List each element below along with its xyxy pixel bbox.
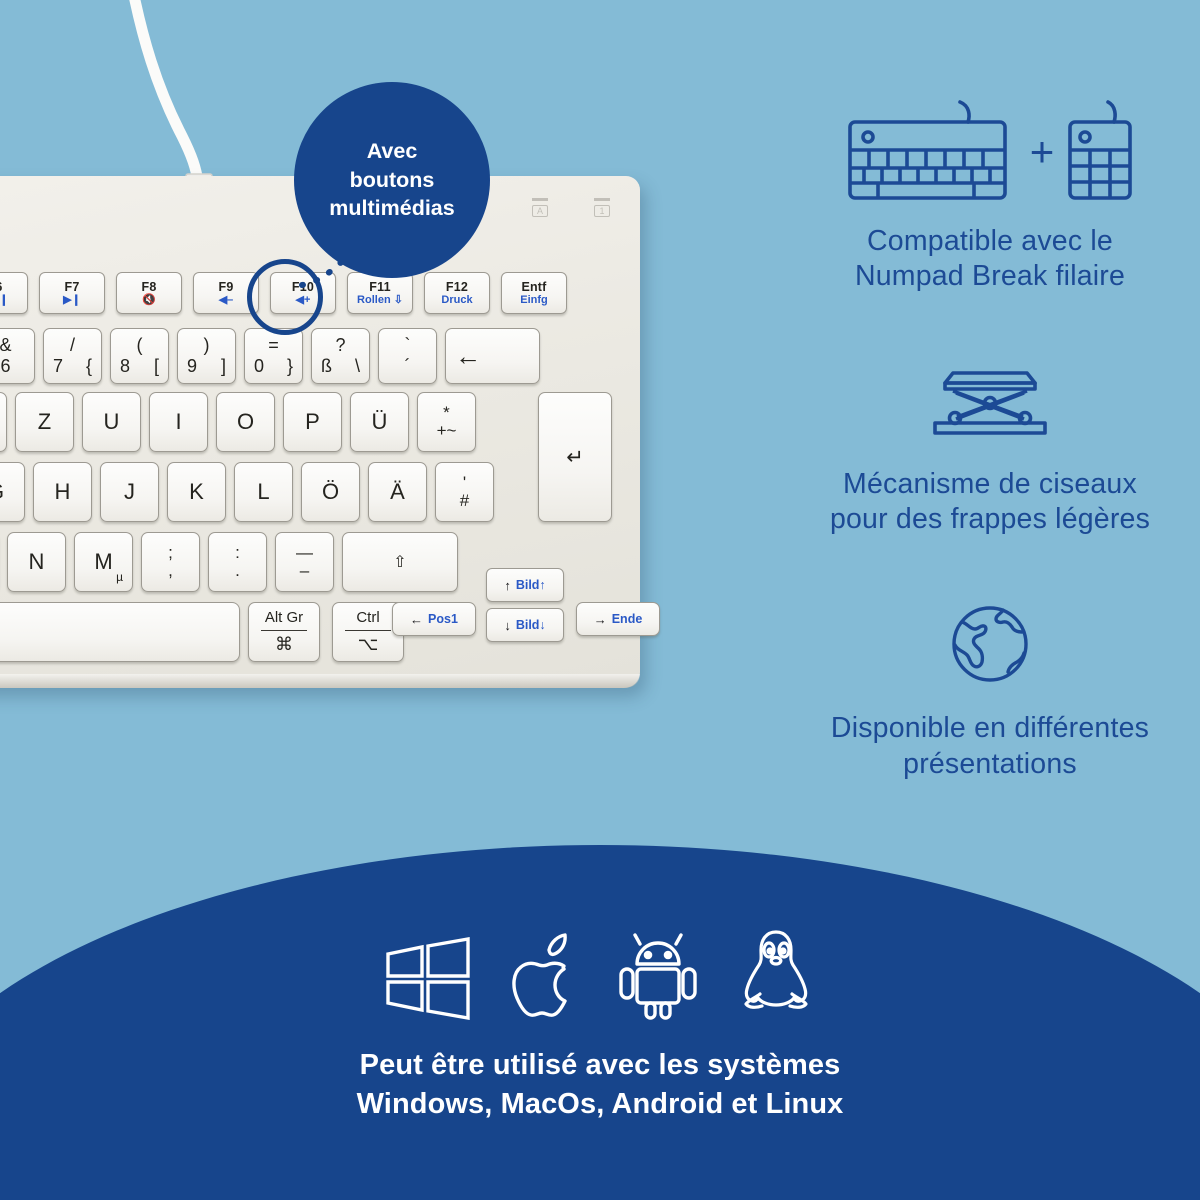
key-i[interactable]: I	[149, 392, 208, 452]
feature-2-line-2: pour des frappes légères	[780, 502, 1200, 537]
key-8[interactable]: ( 8[	[110, 328, 169, 384]
key-alt-gr[interactable]: Alt Gr ⌘	[248, 602, 320, 662]
key-shift-right[interactable]: ⇧	[342, 532, 458, 592]
feature-numpad-compatible: + Compatible avec le Numpad Break filair…	[780, 92, 1200, 295]
key-l[interactable]: L	[234, 462, 293, 522]
key-9[interactable]: ) 9]	[177, 328, 236, 384]
key-m[interactable]: M µ	[74, 532, 133, 592]
banner-line-2: Windows, MacOs, Android et Linux	[0, 1085, 1200, 1124]
key-h[interactable]: H	[33, 462, 92, 522]
feature-2-line-1: Mécanisme de ciseaux	[780, 467, 1200, 502]
key-entf[interactable]: Entf Einfg	[501, 272, 567, 314]
status-leds: A 1	[532, 198, 610, 217]
key-7[interactable]: / 7{	[43, 328, 102, 384]
feature-list: + Compatible avec le Numpad Break filair…	[780, 92, 1200, 782]
feature-1-line-1: Compatible avec le	[780, 224, 1200, 259]
feature-scissor-mechanism: Mécanisme de ciseaux pour des frappes lé…	[780, 347, 1200, 538]
badge-line-1: Avec	[329, 137, 454, 166]
apple-logo-icon	[504, 930, 582, 1020]
badge-line-3: multimédias	[329, 194, 454, 223]
key-f7[interactable]: F7 ▶❙	[39, 272, 105, 314]
feature-layouts-available: Disponible en différentes présentations	[780, 589, 1200, 782]
key-o-umlaut[interactable]: Ö	[301, 462, 360, 522]
num-lock-led: 1	[594, 198, 610, 217]
key-bild-down[interactable]: ↓Bild↓	[486, 608, 564, 642]
key-u-umlaut[interactable]: Ü	[350, 392, 409, 452]
windows-logo-icon	[382, 936, 474, 1020]
key-g[interactable]: G	[0, 462, 25, 522]
key-pos1[interactable]: ←Pos1	[392, 602, 476, 636]
key-z[interactable]: Z	[15, 392, 74, 452]
key-ende[interactable]: →Ende	[576, 602, 660, 636]
feature-1-line-2: Numpad Break filaire	[780, 259, 1200, 294]
feature-3-line-2: présentations	[780, 747, 1200, 782]
product-feature-graphic: Peut être utilisé avec les systèmes Wind…	[0, 0, 1200, 1200]
letter-row-home: G H J K L Ö Ä ' #	[0, 462, 502, 522]
badge-line-2: boutons	[329, 166, 454, 195]
keyboard-plus-numpad-icon: +	[780, 92, 1200, 212]
key-minus[interactable]: — –	[275, 532, 334, 592]
nav-key-ende: →Ende	[576, 602, 668, 636]
bottom-banner-content: Peut être utilisé avec les systèmes Wind…	[0, 930, 1200, 1123]
modifier-key-row: Alt Gr ⌘ Ctrl ⌥	[248, 602, 416, 662]
key-j[interactable]: J	[100, 462, 159, 522]
usb-cable	[60, 0, 260, 201]
key-a-umlaut[interactable]: Ä	[368, 462, 427, 522]
letter-row-bottom: B N M µ ; , : . — –	[0, 532, 466, 592]
android-logo-icon	[612, 928, 704, 1020]
key-0[interactable]: = 0}	[244, 328, 303, 384]
key-6[interactable]: & 6	[0, 328, 35, 384]
key-acute[interactable]: ` ´	[378, 328, 437, 384]
nav-key-stack-pageupdown: ↑Bild↑ ↓Bild↓	[486, 568, 564, 648]
key-plus[interactable]: * +~	[417, 392, 476, 452]
key-space[interactable]	[0, 602, 240, 662]
caps-lock-led: A	[532, 198, 548, 217]
key-comma[interactable]: ; ,	[141, 532, 200, 592]
feature-3-line-1: Disponible en différentes	[780, 711, 1200, 746]
plus-separator: +	[1030, 128, 1055, 176]
banner-line-1: Peut être utilisé avec les systèmes	[0, 1046, 1200, 1085]
key-n[interactable]: N	[7, 532, 66, 592]
key-f6[interactable]: F6 ▶❙❙	[0, 272, 28, 314]
key-bild-up[interactable]: ↑Bild↑	[486, 568, 564, 602]
callout-badge: Avec boutons multimédias	[294, 82, 490, 278]
key-t[interactable]: T	[0, 392, 7, 452]
key-enter[interactable]: ↵	[538, 392, 612, 522]
key-u[interactable]: U	[82, 392, 141, 452]
os-logo-row	[0, 930, 1200, 1020]
key-o[interactable]: O	[216, 392, 275, 452]
key-period[interactable]: : .	[208, 532, 267, 592]
key-f12[interactable]: F12 Druck	[424, 272, 490, 314]
key-backspace[interactable]: ←	[445, 328, 540, 384]
linux-tux-logo-icon	[734, 928, 818, 1020]
globe-icon	[780, 589, 1200, 699]
key-hash[interactable]: ' #	[435, 462, 494, 522]
number-key-row: & 6 / 7{ ( 8[ ) 9]	[0, 328, 548, 384]
scissor-mechanism-icon	[780, 347, 1200, 455]
letter-row-qwertz: T Z U I O P Ü * +~	[0, 392, 484, 452]
key-f8[interactable]: F8 🔇	[116, 272, 182, 314]
key-sharp-s[interactable]: ? ß\	[311, 328, 370, 384]
nav-key-pos1: ←Pos1	[392, 602, 484, 636]
key-k[interactable]: K	[167, 462, 226, 522]
key-p[interactable]: P	[283, 392, 342, 452]
